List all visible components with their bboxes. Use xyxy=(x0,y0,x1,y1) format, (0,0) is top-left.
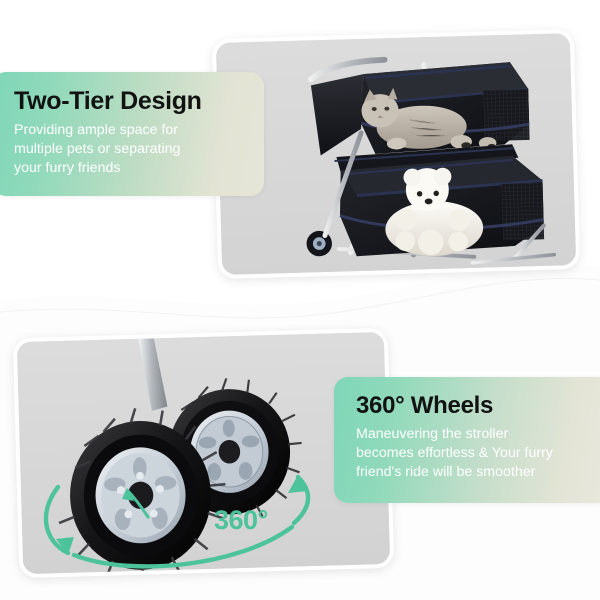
feature-card-360-wheels: 360° Wheels Maneuvering the stroller bec… xyxy=(334,377,600,503)
feature-body-360-wheels: Maneuvering the stroller becomes effortl… xyxy=(356,425,596,482)
feature-title-two-tier: Two-Tier Design xyxy=(14,88,246,114)
feature-title-360-wheels: 360° Wheels xyxy=(356,393,596,418)
rotation-indicator xyxy=(30,455,320,575)
feature-body-line: friend's ride will be smoother xyxy=(356,463,596,482)
feature-body-line: becomes effortless & Your furry xyxy=(356,444,596,463)
feature-body-line: multiple pets or separating xyxy=(14,140,246,159)
feature-photo-panel-two-tier xyxy=(212,29,581,279)
feature-body-two-tier: Providing ample space for multiple pets … xyxy=(14,121,246,178)
feature-body-line: your furry friends xyxy=(14,159,246,178)
feature-body-line: Maneuvering the stroller xyxy=(356,425,596,444)
pet-stroller-two-tier-photo xyxy=(216,33,576,277)
infographic-stage: Two-Tier Design Providing ample space fo… xyxy=(0,0,600,600)
rotation-degree-label: 360° xyxy=(214,505,268,536)
feature-card-two-tier-design: Two-Tier Design Providing ample space fo… xyxy=(0,72,264,196)
feature-body-line: Providing ample space for xyxy=(14,121,246,140)
